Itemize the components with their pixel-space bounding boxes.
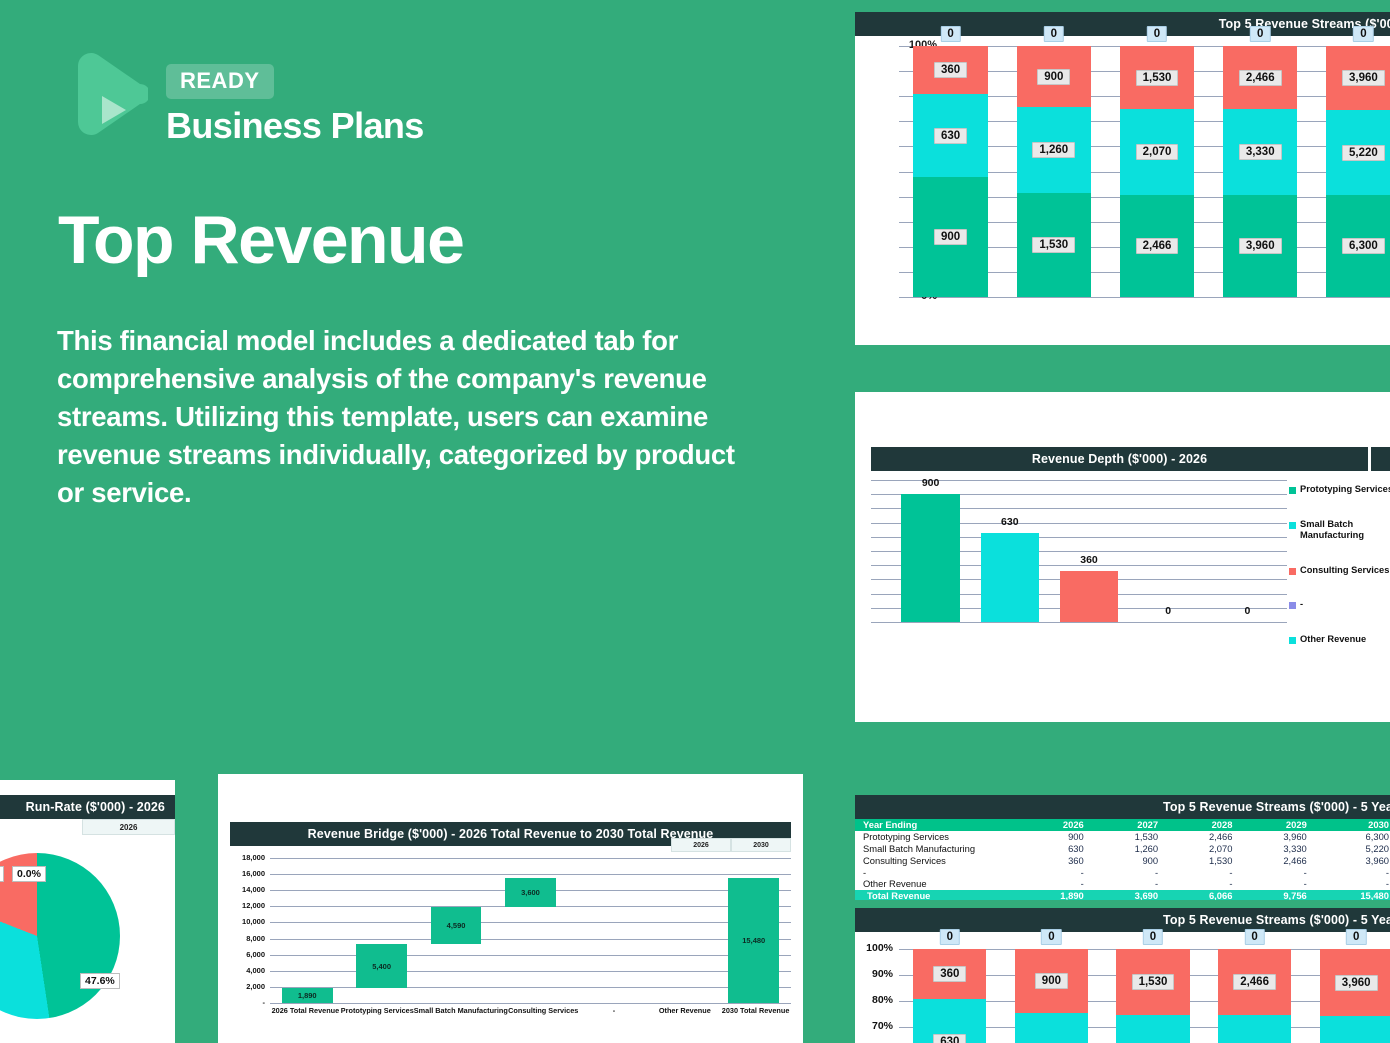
bar-segment: 630 — [913, 94, 987, 178]
legend-item: - — [1289, 599, 1390, 611]
y-axis-tick-label: 70% — [872, 1020, 893, 1032]
table-row-label: Prototyping Services — [855, 831, 1035, 843]
bar-segment-label: 2,466 — [1136, 238, 1179, 254]
table-cell: 2,070 — [1184, 843, 1258, 855]
table-row: Consulting Services3609001,5302,4663,960 — [855, 854, 1390, 866]
bar-group: 36063090009001,2601,53001,5302,0702,4660… — [899, 46, 1390, 297]
bar-segment-label: 3,960 — [1335, 975, 1378, 991]
page-description: This financial model includes a dedicate… — [57, 322, 757, 512]
bar-segment-label: 900 — [934, 229, 967, 245]
table-row-label: Small Batch Manufacturing — [855, 843, 1035, 855]
bar-segment: 3,330 — [1223, 109, 1297, 195]
y-axis-tick-label: 6,000 — [246, 950, 265, 959]
table-column-header: 2026 — [1035, 819, 1109, 831]
y-axis-tick-label: 2,000 — [246, 982, 265, 991]
table-cell: 9,756 — [1258, 890, 1332, 900]
y-axis-tick-label: 16,000 — [242, 869, 265, 878]
legend-label: Small Batch Manufacturing — [1300, 519, 1390, 542]
page-title: Top Revenue — [58, 206, 463, 274]
waterfall-bar: 3,600 — [505, 878, 556, 907]
table-title: Top 5 Revenue Streams ($'000) - 5 Years — [855, 795, 1390, 819]
bar-segment: 1,530 — [1120, 46, 1194, 109]
bar-column — [642, 858, 716, 1003]
bar-column: 3606309000 — [899, 46, 1002, 297]
bar-segment: 2,466 — [1218, 949, 1291, 1015]
bar-segment: 1,530 — [1017, 193, 1091, 297]
table-column-header: Year Ending — [855, 819, 1035, 831]
bridge-year-cell: 2026 — [671, 838, 731, 852]
table-column-header: 2028 — [1184, 819, 1258, 831]
bar-column: 3,600 — [493, 858, 567, 1003]
legend-swatch-icon — [1289, 568, 1296, 575]
legend-item: Prototyping Services — [1289, 484, 1390, 496]
y-axis-tick-label: 90% — [872, 968, 893, 980]
bar-value-label: 1,890 — [298, 991, 317, 1000]
bar-column: 360 — [1049, 480, 1128, 622]
bar-column: 0 — [1208, 480, 1287, 622]
slide-root: READY Business Plans Top Revenue This fi… — [0, 0, 1390, 1043]
bar-segment-label: 1,260 — [1032, 142, 1075, 158]
bar-segment-label: 360 — [934, 62, 967, 78]
table-cell: - — [1184, 878, 1258, 890]
table-cell: 360 — [1035, 854, 1109, 866]
bar-segment-label: 900 — [1035, 973, 1068, 989]
chart-title: Revenue Depth ($'000) - 2026 — [871, 447, 1368, 471]
table-row-label: Consulting Services — [855, 854, 1035, 866]
bar-column: 3,9605,2200 — [1305, 944, 1390, 1043]
bar-segment-label: 0 — [1346, 929, 1366, 945]
bar-column: 900 — [891, 480, 970, 622]
table-row: ------ — [855, 866, 1390, 878]
bar-value-label: 15,480 — [742, 936, 765, 945]
bar-segment-label: 900 — [1037, 69, 1070, 85]
table-card-top5-revenue: Top 5 Revenue Streams ($'000) - 5 Years … — [855, 795, 1390, 900]
bar-column: 9001,2601,5300 — [1002, 46, 1105, 297]
bar-group: 90063036000 — [891, 480, 1287, 622]
chart-card-top5-stacked-top: Top 5 Revenue Streams ($'000) 100%90%80%… — [855, 12, 1390, 345]
chart-card-revenue-bridge: Revenue Bridge ($'000) - 2026 Total Reve… — [218, 774, 803, 1043]
legend-label: Prototyping Services — [1300, 484, 1390, 496]
legend-item: Consulting Services — [1289, 565, 1390, 577]
table-cell: 6,066 — [1184, 890, 1258, 900]
y-axis-tick-label: 18,000 — [242, 853, 265, 862]
waterfall-bar: 15,480 — [728, 878, 779, 1003]
table-row-label: - — [855, 866, 1035, 878]
y-axis-tick-label: 14,000 — [242, 885, 265, 894]
table-cell: 1,530 — [1184, 854, 1258, 866]
bar-column: 1,5302,0700 — [1102, 944, 1204, 1043]
bar-column: 630 — [970, 480, 1049, 622]
bar-segment-label: 0 — [940, 26, 960, 42]
table-cell: 1,260 — [1110, 843, 1184, 855]
bar-segment: 1,530 — [1116, 949, 1189, 1015]
table-cell: - — [1184, 866, 1258, 878]
table-cell: 2,466 — [1258, 854, 1332, 866]
table-row: Small Batch Manufacturing6301,2602,0703,… — [855, 843, 1390, 855]
bar-group: 36063009001,26001,5302,07002,4663,33003,… — [899, 944, 1390, 1043]
table-cell: 630 — [1035, 843, 1109, 855]
table-cell: - — [1333, 878, 1390, 890]
bar-segment-label: 630 — [933, 1034, 966, 1043]
bar-segment: 360 — [913, 949, 986, 999]
bar-segment: 3,960 — [1223, 195, 1297, 297]
play-triangle-icon — [70, 52, 148, 136]
bar-segment-label: 0 — [1143, 929, 1163, 945]
revenue-table: Year Ending20262027202820292030 Prototyp… — [855, 819, 1390, 900]
bar-group: 1,8905,4004,5903,60015,480 — [270, 858, 791, 1003]
table-cell: 3,690 — [1110, 890, 1184, 900]
chart-card-top5-stacked-bottom: Top 5 Revenue Streams ($'000) - 5 Years … — [855, 908, 1390, 1043]
bar-segment-label: 0 — [1250, 26, 1270, 42]
bar-column: 9001,2600 — [1001, 944, 1103, 1043]
bar-column: 2,4663,3300 — [1204, 944, 1306, 1043]
percent-stacked-chart-bottom: 100%90%80%70%36063009001,26001,5302,0700… — [899, 944, 1390, 1043]
table-cell: - — [1258, 878, 1332, 890]
pie-slice-label: 0.0% — [0, 866, 4, 882]
bar-segment-label: 1,530 — [1032, 237, 1075, 253]
bar-value-label: 900 — [922, 477, 940, 489]
gridline — [899, 297, 1390, 298]
table-cell: - — [1035, 878, 1109, 890]
y-axis-tick-label: - — [263, 998, 266, 1007]
bar-value-label: 630 — [1001, 516, 1019, 528]
bar-segment-label: 2,466 — [1233, 974, 1276, 990]
bridge-year-headers: 20262030 — [671, 838, 791, 852]
y-axis-tick-label: 8,000 — [246, 934, 265, 943]
chart-card-revenue-run-rate: Run-Rate ($'000) - 2026 2026 47.6%33.3%1… — [0, 780, 175, 1043]
legend-swatch-icon — [1289, 487, 1296, 494]
bar-column: 5,400 — [344, 858, 418, 1003]
bar-value-label: 3,600 — [521, 888, 540, 897]
waterfall-bar: 1,890 — [282, 988, 333, 1003]
legend-label: Consulting Services — [1300, 565, 1389, 577]
bar-value-label: 0 — [1165, 605, 1171, 617]
x-axis-tick-label: 2030 Total Revenue — [720, 1006, 791, 1015]
table-cell: 900 — [1110, 854, 1184, 866]
table-cell: 5,220 — [1333, 843, 1390, 855]
percent-stacked-chart: 100%90%80%70%60%50%40%30%20%10%0%3606309… — [855, 36, 1390, 323]
waterfall-bar: 4,590 — [431, 907, 482, 944]
bar-segment-label: 0 — [1353, 26, 1373, 42]
bar-segment: 5,220 — [1326, 110, 1390, 195]
legend-label: Other Revenue — [1300, 634, 1366, 646]
legend-item: Small Batch Manufacturing — [1289, 519, 1390, 542]
bar-column: 3606300 — [899, 944, 1001, 1043]
bar-segment-label: 360 — [933, 966, 966, 982]
bar-column: 3,9605,2206,3000 — [1312, 46, 1390, 297]
pie-slice-label: 47.6% — [80, 973, 120, 989]
ready-badge: READY — [166, 64, 274, 99]
bar-column: 1,890 — [270, 858, 344, 1003]
legend-swatch-icon — [1289, 522, 1296, 529]
bar-segment-label: 0 — [1147, 26, 1167, 42]
chart-legend: Prototyping ServicesSmall Batch Manufact… — [1289, 484, 1390, 668]
bridge-year-cell: 2030 — [731, 838, 791, 852]
bar-segment-label: 630 — [934, 128, 967, 144]
bar-segment-label: 6,300 — [1342, 238, 1385, 254]
table-cell: 1,530 — [1110, 831, 1184, 843]
bar-segment: 2,466 — [1223, 46, 1297, 109]
bar-segment: 900 — [1015, 949, 1088, 1013]
brand-name: Business Plans — [166, 105, 424, 147]
bar-value-label: 0 — [1244, 605, 1250, 617]
x-axis-tick-label: - — [579, 1006, 650, 1015]
bar-segment: 630 — [913, 999, 986, 1043]
bar-segment-label: 1,530 — [1132, 974, 1175, 990]
x-axis-tick-label: 2026 Total Revenue — [270, 1006, 341, 1015]
chart-card-revenue-depth: Revenue Depth ($'000) - 2026 90063036000… — [855, 392, 1390, 722]
brand-logo: READY Business Plans — [70, 52, 424, 147]
legend-label: - — [1300, 599, 1303, 611]
bar-segment-label: 5,220 — [1342, 145, 1385, 161]
y-axis-tick-label: 100% — [866, 942, 893, 954]
table-column-header: 2027 — [1110, 819, 1184, 831]
table-cell: - — [1333, 866, 1390, 878]
y-axis-tick-label: 4,000 — [246, 966, 265, 975]
table-cell: 2,466 — [1184, 831, 1258, 843]
table-total-row: Total Revenue1,8903,6906,0669,75615,480 — [855, 890, 1390, 900]
bar-segment: 6,300 — [1326, 195, 1390, 297]
bar-segment: 2,070 — [1120, 109, 1194, 195]
title-bar-extension — [1371, 447, 1390, 471]
waterfall-bar: 5,400 — [356, 944, 407, 988]
chart-title: Run-Rate ($'000) - 2026 — [0, 795, 175, 819]
gridline — [270, 1003, 791, 1004]
bar-value-label: 5,400 — [372, 962, 391, 971]
x-axis-tick-label: Other Revenue — [649, 1006, 720, 1015]
legend-swatch-icon — [1289, 602, 1296, 609]
chart-title: Top 5 Revenue Streams ($'000) — [855, 12, 1390, 36]
table-row-label: Total Revenue — [855, 890, 1035, 900]
pie-year-cell: 2026 — [82, 819, 175, 835]
bar-segment-label: 1,530 — [1136, 70, 1179, 86]
bar-segment-label: 0 — [1041, 929, 1061, 945]
bar-segment: 2,070 — [1116, 1015, 1189, 1043]
table-cell: - — [1258, 866, 1332, 878]
x-axis-tick-label: Small Batch Manufacturing — [414, 1006, 508, 1015]
bar-segment: 2,466 — [1120, 195, 1194, 297]
table-row-label: Other Revenue — [855, 878, 1035, 890]
table-row: Prototyping Services9001,5302,4663,9606,… — [855, 831, 1390, 843]
bar-segment-label: 3,960 — [1239, 238, 1282, 254]
bar-segment-label: 0 — [940, 929, 960, 945]
bar-segment: 1,260 — [1015, 1013, 1088, 1043]
table-header-row: Year Ending20262027202820292030 — [855, 819, 1390, 831]
table-cell: 1,890 — [1035, 890, 1109, 900]
table-cell: - — [1110, 878, 1184, 890]
bar-column: 2,4663,3303,9600 — [1209, 46, 1312, 297]
table-cell: - — [1035, 866, 1109, 878]
bar-segment: 1,260 — [1017, 107, 1091, 193]
bar-segment: 3,960 — [1326, 46, 1390, 110]
bar-column: 4,590 — [419, 858, 493, 1003]
table-row: Other Revenue----- — [855, 878, 1390, 890]
y-axis-tick-label: 12,000 — [242, 901, 265, 910]
bar-column: 15,480 — [717, 858, 791, 1003]
table-cell: 3,960 — [1333, 854, 1390, 866]
bar-segment-label: 3,330 — [1239, 144, 1282, 160]
table-column-header: 2030 — [1333, 819, 1390, 831]
bar-column: 0 — [1129, 480, 1208, 622]
bar-value-label: 360 — [1080, 554, 1098, 566]
chart-title: Top 5 Revenue Streams ($'000) - 5 Years — [855, 908, 1390, 932]
bar-column: 1,5302,0702,4660 — [1105, 46, 1208, 297]
bar-segment: 900 — [1017, 46, 1091, 107]
table-cell: 3,960 — [1258, 831, 1332, 843]
bar-segment: 360 — [913, 46, 987, 94]
bar-segment: 5,220 — [1320, 1016, 1390, 1043]
bar: 360 — [1060, 571, 1119, 622]
y-axis-tick-label: 80% — [872, 994, 893, 1006]
bar: 900 — [901, 494, 960, 622]
bar-segment: 3,330 — [1218, 1015, 1291, 1043]
bar: 630 — [981, 533, 1040, 622]
bar-segment-label: 3,960 — [1342, 70, 1385, 86]
bar-segment: 900 — [913, 177, 987, 297]
y-axis-tick-label: 10,000 — [242, 917, 265, 926]
bar-segment-label: 2,070 — [1136, 144, 1179, 160]
table-column-header: 2029 — [1258, 819, 1332, 831]
table-cell: 6,300 — [1333, 831, 1390, 843]
x-axis-tick-label: Consulting Services — [508, 1006, 579, 1015]
table-cell: - — [1110, 866, 1184, 878]
legend-swatch-icon — [1289, 637, 1296, 644]
pie-slice-label: 0.0% — [12, 866, 46, 882]
bar-segment-label: 0 — [1044, 26, 1064, 42]
table-cell: 900 — [1035, 831, 1109, 843]
bridge-x-axis-labels: 2026 Total RevenuePrototyping ServicesSm… — [270, 1006, 791, 1015]
legend-item: Other Revenue — [1289, 634, 1390, 646]
bar-segment-label: 2,466 — [1239, 70, 1282, 86]
bar-segment: 3,960 — [1320, 949, 1390, 1016]
gridline — [871, 622, 1287, 623]
bar-segment-label: 0 — [1244, 929, 1264, 945]
bar-value-label: 4,590 — [447, 921, 466, 930]
table-cell: 15,480 — [1333, 890, 1390, 900]
table-cell: 3,330 — [1258, 843, 1332, 855]
bar-column — [568, 858, 642, 1003]
x-axis-tick-label: Prototyping Services — [341, 1006, 414, 1015]
